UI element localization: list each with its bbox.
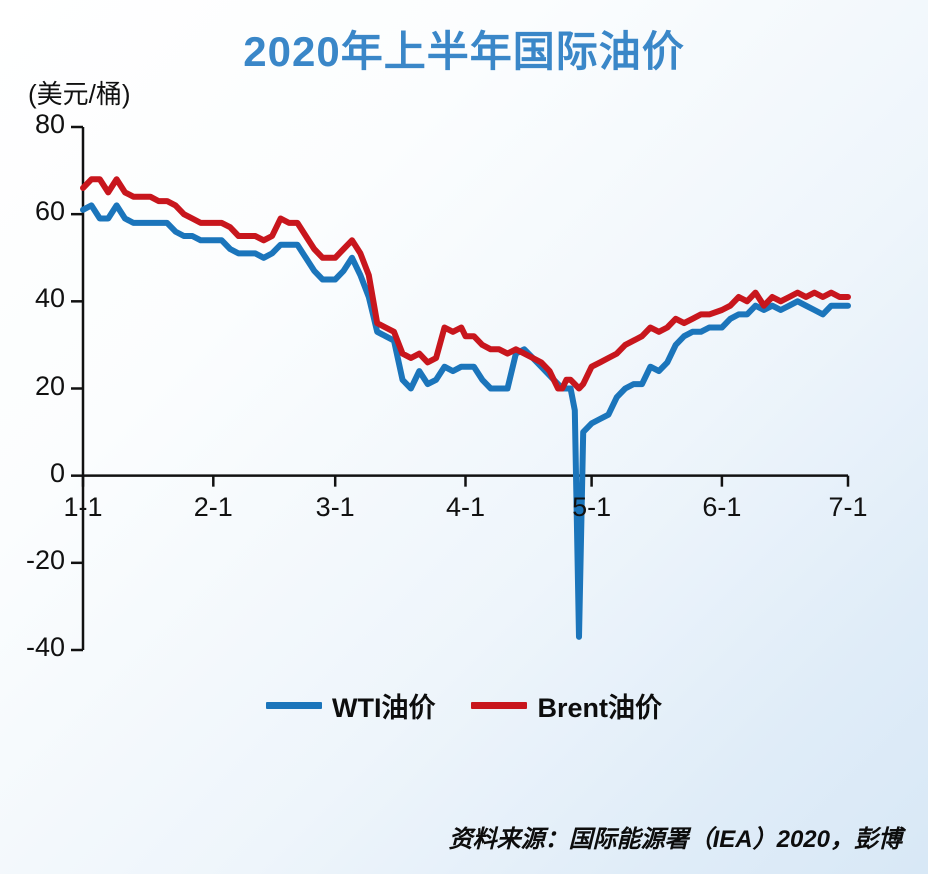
legend-label-brent: Brent油价: [537, 686, 662, 725]
legend-item-wti[interactable]: WTI油价: [266, 686, 435, 725]
x-axis-tick-label: 1-1: [38, 492, 128, 523]
x-axis-tick-label: 6-1: [677, 492, 767, 523]
x-axis-tick-label: 3-1: [290, 492, 380, 523]
source-note: 资料来源：国际能源署（IEA）2020，彭博: [449, 819, 902, 854]
series-line-wti: [83, 205, 848, 637]
y-axis-tick-label: 60: [5, 196, 65, 227]
y-axis-tick-label: -40: [5, 632, 65, 663]
axis-group: [71, 127, 848, 650]
y-axis-tick-label: 80: [5, 109, 65, 140]
x-axis-tick-label: 5-1: [547, 492, 637, 523]
y-axis-tick-label: 40: [5, 283, 65, 314]
chart-page: 2020年上半年国际油价 (美元/桶) 806040200-20-40 1-12…: [0, 0, 928, 874]
x-axis-tick-label: 4-1: [421, 492, 511, 523]
data-series-group: [83, 179, 848, 637]
legend-swatch-brent: [471, 702, 527, 709]
legend-label-wti: WTI油价: [332, 686, 435, 725]
y-axis-ticks: [71, 127, 83, 650]
y-axis-tick-label: -20: [5, 545, 65, 576]
x-axis-ticks: [83, 476, 848, 487]
x-axis-tick-label: 7-1: [803, 492, 893, 523]
line-chart-svg: [0, 0, 928, 874]
legend-item-brent[interactable]: Brent油价: [471, 686, 662, 725]
legend-swatch-wti: [266, 702, 322, 709]
y-axis-tick-label: 20: [5, 371, 65, 402]
x-axis-tick-label: 2-1: [168, 492, 258, 523]
series-line-brent: [83, 179, 848, 388]
chart-legend: WTI油价 Brent油价: [0, 686, 928, 725]
y-axis-tick-label: 0: [5, 458, 65, 489]
plot-area: 806040200-20-40 1-12-13-14-15-16-17-1: [0, 0, 928, 874]
